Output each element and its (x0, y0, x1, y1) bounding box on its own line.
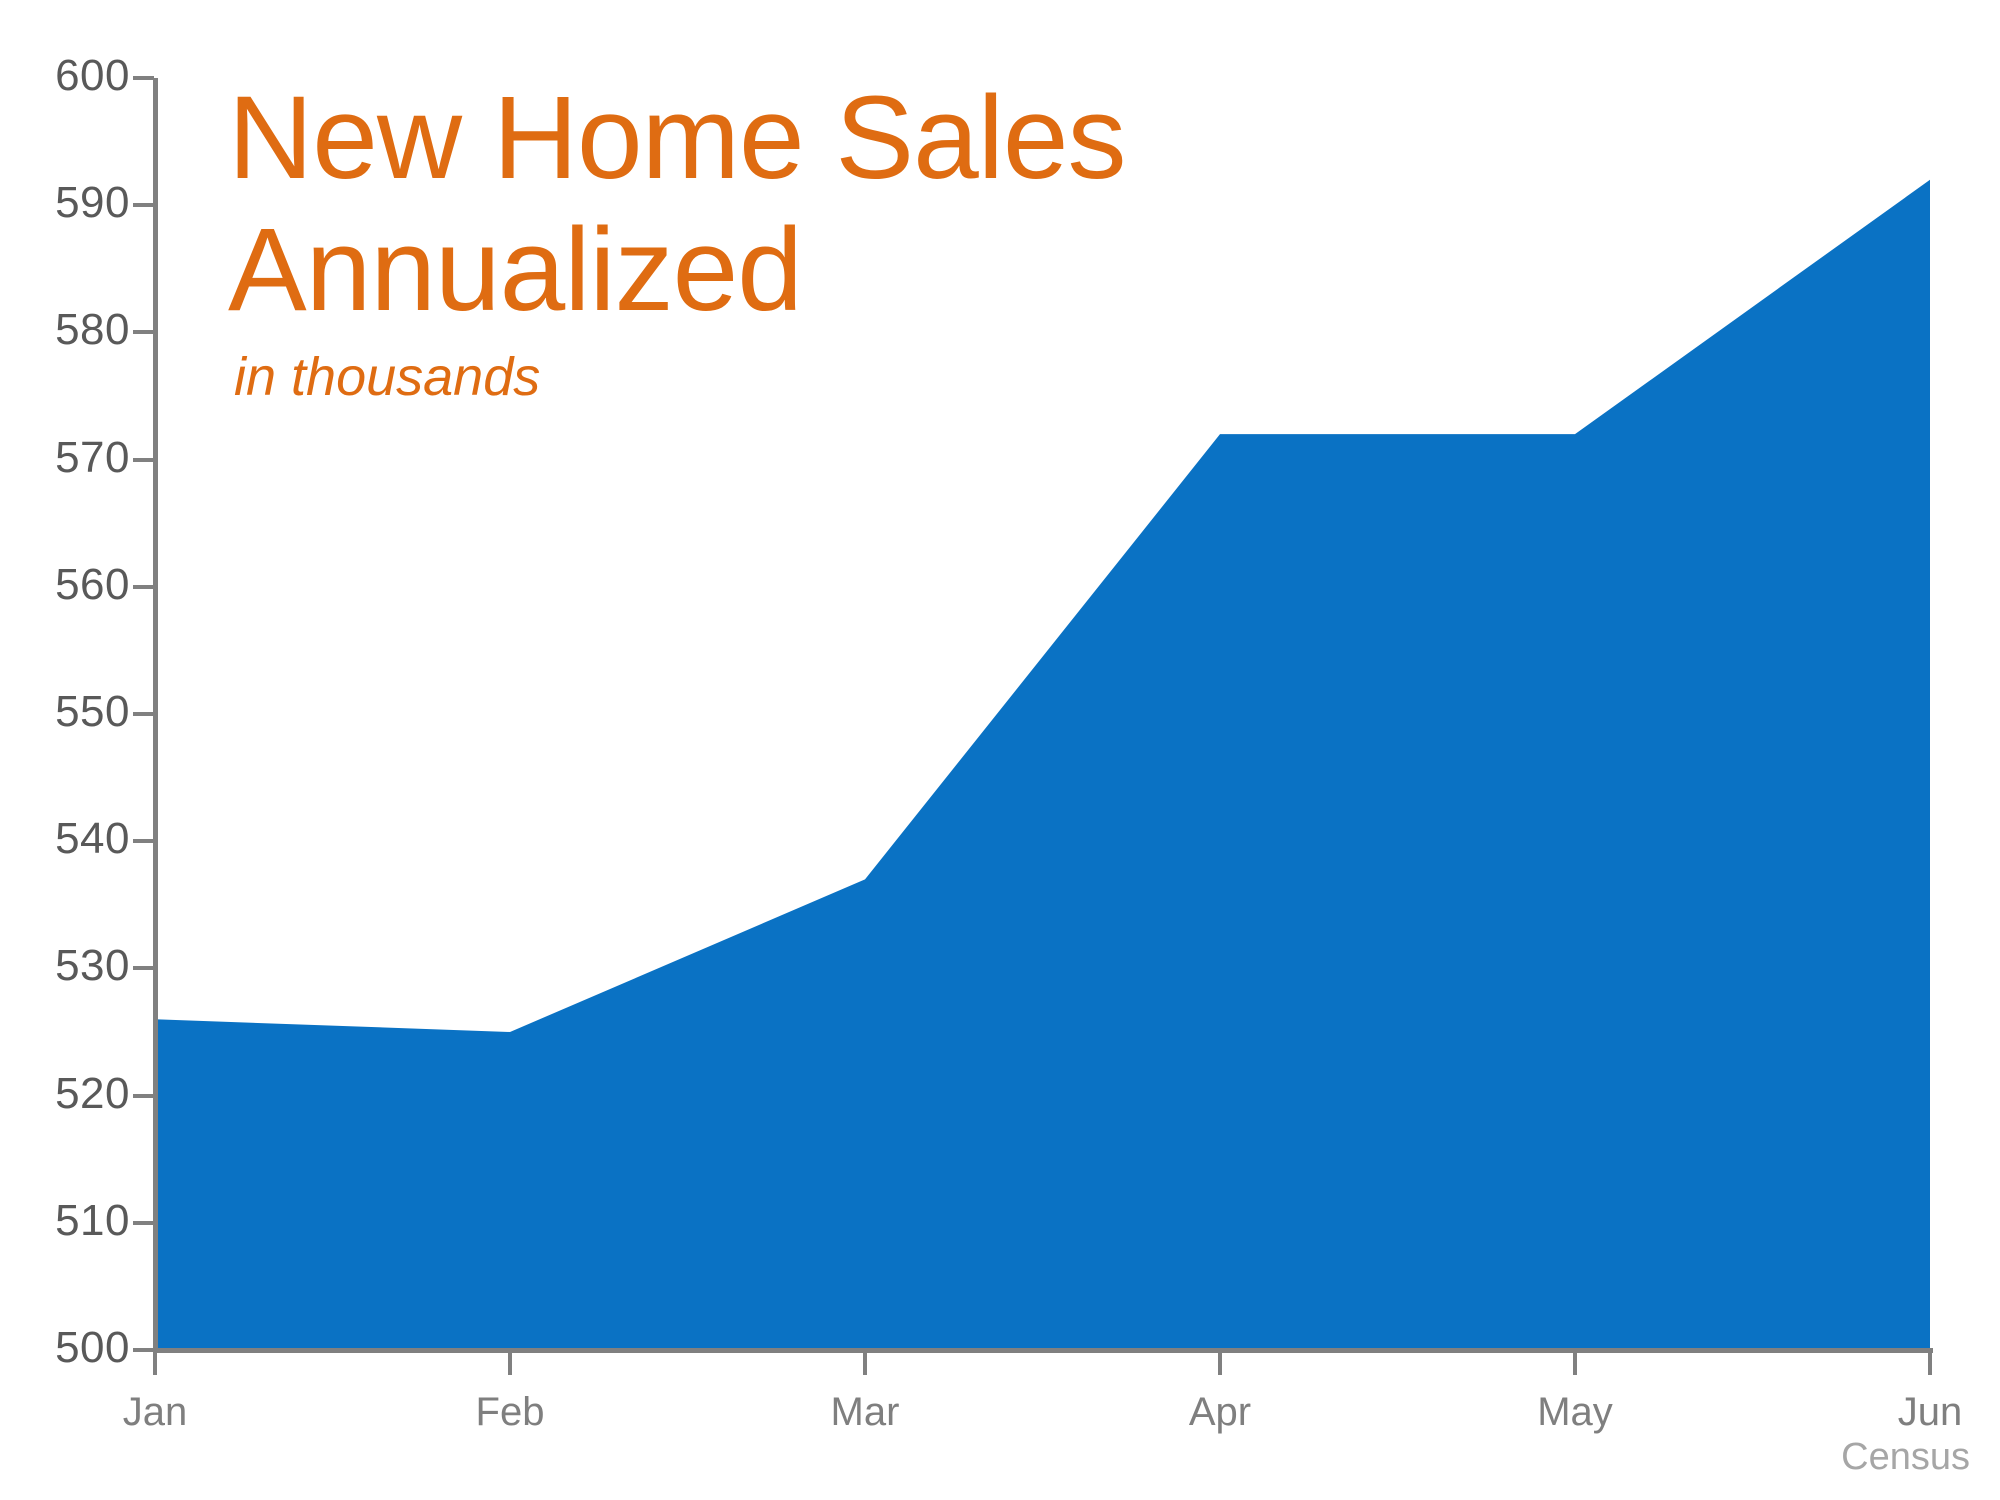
y-axis-tick (133, 1094, 154, 1098)
x-axis-tick (1928, 1353, 1932, 1375)
x-axis-tick-label: Mar (831, 1392, 900, 1432)
y-axis-tick-label: 530 (0, 944, 130, 988)
source-label: Census (1841, 1438, 1970, 1476)
title-block: New Home Sales Annualized in thousands (228, 72, 1478, 404)
y-axis-tick-label: 510 (0, 1199, 130, 1243)
y-axis-tick (133, 330, 154, 334)
y-axis-tick-label: 500 (0, 1326, 130, 1370)
y-axis-tick (133, 839, 154, 843)
x-axis-tick (863, 1353, 867, 1375)
x-axis-tick (153, 1353, 157, 1375)
y-axis-tick (133, 76, 154, 80)
y-axis-tick-label: 550 (0, 690, 130, 734)
x-axis-tick (1573, 1353, 1577, 1375)
x-axis-tick-label: Jun (1898, 1392, 1963, 1432)
x-axis-tick (508, 1353, 512, 1375)
x-axis-tick-label: May (1537, 1392, 1613, 1432)
y-axis-tick (133, 203, 154, 207)
y-axis-tick (133, 1221, 154, 1225)
y-axis-tick-label: 520 (0, 1072, 130, 1116)
y-axis-tick (133, 966, 154, 970)
y-axis-tick-label: 540 (0, 817, 130, 861)
chart-canvas: 600590580570560550540530520510500 JanFeb… (0, 0, 2000, 1500)
x-axis-tick-label: Feb (476, 1392, 545, 1432)
y-axis-tick-label: 600 (0, 54, 130, 98)
y-axis-tick-label: 560 (0, 563, 130, 607)
chart-title: New Home Sales Annualized (228, 72, 1478, 336)
y-axis-tick (133, 712, 154, 716)
y-axis-tick (133, 1348, 154, 1352)
y-axis-tick-label: 580 (0, 308, 130, 352)
chart-subtitle: in thousands (234, 350, 1478, 404)
x-axis-tick (1218, 1353, 1222, 1375)
x-axis-line (153, 1348, 1933, 1353)
y-axis-tick-label: 590 (0, 181, 130, 225)
y-axis-tick (133, 458, 154, 462)
x-axis-tick-label: Jan (123, 1392, 188, 1432)
y-axis-tick-label: 570 (0, 436, 130, 480)
x-axis-tick-label: Apr (1189, 1392, 1251, 1432)
y-axis-tick (133, 585, 154, 589)
